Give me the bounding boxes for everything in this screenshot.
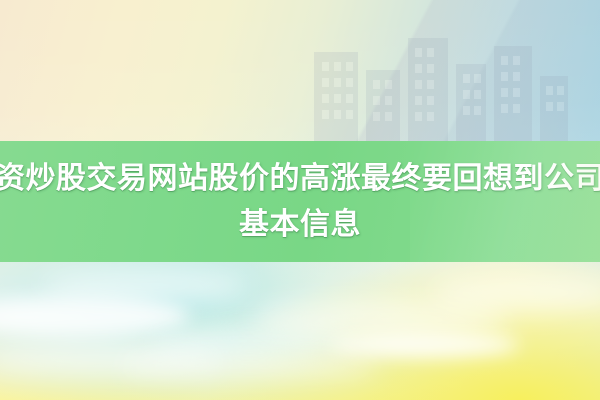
cloud-wisp	[40, 268, 250, 304]
headline-text: 配资炒股交易网站股价的高涨最终要回想到公司的 基本信息	[0, 141, 600, 262]
cloud-wisp	[120, 352, 380, 378]
cloud-wisp	[150, 326, 350, 356]
cloud-wisp	[0, 296, 190, 338]
promo-banner: 配资炒股交易网站股价的高涨最终要回想到公司的 基本信息	[0, 0, 600, 400]
cloud-wisp	[250, 300, 510, 340]
ghost-cityscape-svg	[300, 8, 600, 141]
cloud-wisp	[430, 276, 600, 310]
cloud-wisp	[330, 332, 520, 358]
cloud-wisp	[0, 344, 220, 374]
ghost-cityscape-icon	[300, 8, 600, 141]
headline-line-1: 配资炒股交易网站股价的高涨最终要回想到公司的	[0, 156, 600, 202]
ghost-diagonal-shape	[280, 0, 600, 141]
headline-line-2: 基本信息	[239, 202, 361, 248]
headline-band: 配资炒股交易网站股价的高涨最终要回想到公司的 基本信息	[0, 141, 600, 262]
